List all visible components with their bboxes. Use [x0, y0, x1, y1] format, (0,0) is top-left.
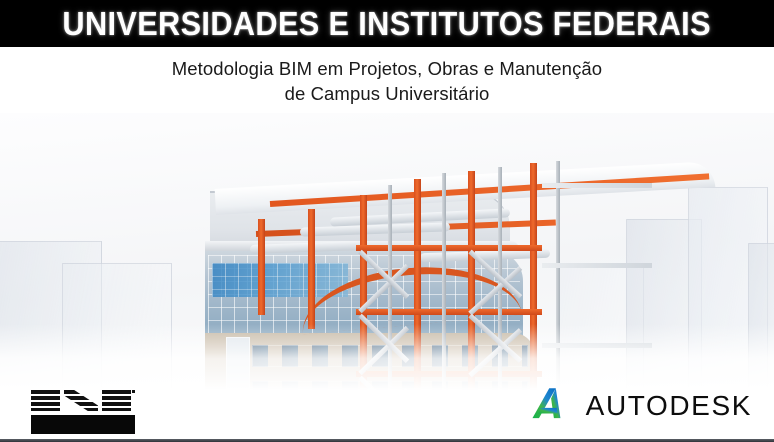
- eng-striped-glyphs-icon: [31, 390, 135, 411]
- eng-solid-bar: [31, 415, 135, 434]
- eng-registered-tick-icon: [132, 390, 135, 393]
- building-render-image: [0, 113, 774, 390]
- subtitle-line-2: de Campus Universitário: [0, 81, 774, 106]
- eng-glyph-g-icon: [102, 390, 131, 411]
- eng-glyph-n-icon: [64, 390, 98, 411]
- autodesk-a-mark-icon: [532, 387, 573, 425]
- eng-wordmark-logo: [31, 390, 135, 434]
- eng-glyph-e-icon: [31, 390, 60, 411]
- autodesk-logo: AUTODESK: [532, 387, 752, 425]
- blue-glass-panel: [212, 263, 348, 297]
- steel-beam: [356, 245, 542, 251]
- footer-bar: AUTODESK: [0, 378, 774, 442]
- subtitle-block: Metodologia BIM em Projetos, Obras e Man…: [0, 47, 774, 113]
- presentation-slide: UNIVERSIDADES E INSTITUTOS FEDERAIS Meto…: [0, 0, 774, 442]
- steel-column: [308, 209, 315, 329]
- slab-edge: [542, 263, 652, 268]
- slab-edge: [542, 183, 652, 188]
- title-band: UNIVERSIDADES E INSTITUTOS FEDERAIS: [0, 0, 774, 47]
- subtitle-line-1: Metodologia BIM em Projetos, Obras e Man…: [0, 56, 774, 81]
- steel-column: [258, 219, 265, 315]
- autodesk-wordmark: AUTODESK: [586, 392, 752, 420]
- page-title: UNIVERSIDADES E INSTITUTOS FEDERAIS: [63, 5, 712, 43]
- steel-beam: [356, 309, 542, 315]
